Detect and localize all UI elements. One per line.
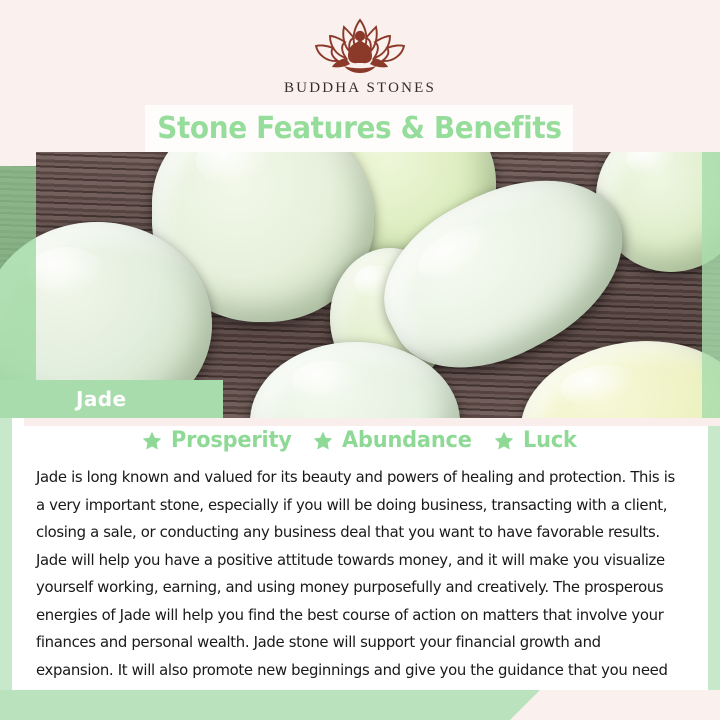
stone-photo — [0, 152, 720, 418]
stone-name-label: Jade — [76, 387, 126, 411]
benefit-label: Luck — [523, 428, 577, 453]
footer-green-band — [0, 690, 570, 720]
benefit-item-luck: Luck — [493, 428, 580, 453]
benefit-item-abundance: Abundance — [312, 428, 479, 453]
brand-logo: BUDDHA STONES — [250, 14, 470, 97]
description-card: Prosperity Abundance Luck Jade is long k… — [12, 418, 708, 690]
brand-name: BUDDHA STONES — [250, 80, 470, 97]
star-icon — [493, 430, 515, 452]
photo-right-green-overlay — [702, 152, 720, 418]
benefit-label: Prosperity — [171, 428, 292, 453]
star-icon — [312, 430, 334, 452]
benefit-item-prosperity: Prosperity — [141, 428, 298, 453]
card-top-edge — [24, 418, 720, 426]
benefit-label: Abundance — [342, 428, 472, 453]
infographic-page: BUDDHA STONES Stone Features & Benefits … — [0, 0, 720, 720]
stone-name-band: Jade — [0, 380, 223, 418]
photo-canvas — [0, 152, 720, 418]
photo-left-green-overlay — [0, 164, 36, 412]
title-banner: Stone Features & Benefits — [145, 105, 573, 152]
lotus-meditation-icon — [300, 14, 420, 76]
description-text: Jade is long known and valued for its be… — [36, 464, 681, 712]
star-icon — [141, 430, 163, 452]
page-title: Stone Features & Benefits — [157, 111, 561, 146]
benefits-row: Prosperity Abundance Luck — [12, 428, 708, 453]
card-left-green-strip — [0, 418, 12, 690]
card-right-green-strip — [708, 418, 720, 690]
photo-top-left-notch — [0, 152, 36, 166]
content-section: Prosperity Abundance Luck Jade is long k… — [0, 418, 720, 720]
